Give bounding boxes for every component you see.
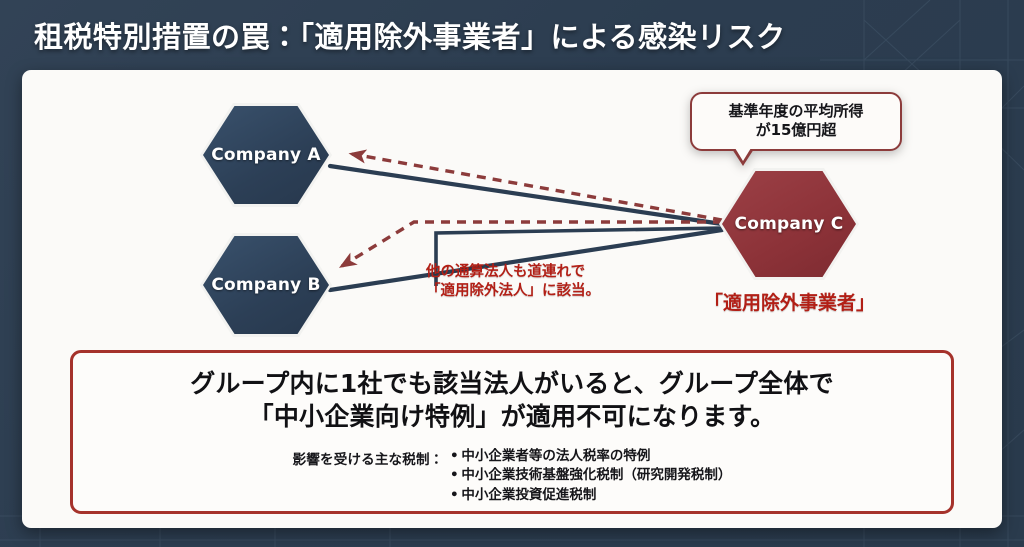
node-company-b-label: Company B bbox=[211, 275, 320, 295]
callout-line-2: が15億円超 bbox=[702, 121, 890, 140]
bullet-icon: • bbox=[447, 466, 461, 486]
infection-note-line-1: 他の通算法人も道連れで bbox=[426, 263, 600, 282]
node-company-a[interactable]: Company A bbox=[200, 103, 332, 207]
impact-label: 影響を受ける主な税制： bbox=[293, 447, 444, 468]
node-company-b[interactable]: Company B bbox=[200, 233, 332, 337]
infection-note-line-2: 「適用除外法人」に該当。 bbox=[426, 282, 600, 301]
impact-item-text: 中小企業技術基盤強化税制（研究開発税制） bbox=[461, 466, 731, 486]
slide-title-bar: 租税特別措置の罠：「適用除外事業者」による感染リスク bbox=[0, 0, 1024, 70]
conclusion-headline-line-1: グループ内に1社でも該当法人がいると、グループ全体で bbox=[73, 367, 951, 400]
callout-tail-fill bbox=[735, 148, 751, 161]
impact-section: 影響を受ける主な税制： • 中小企業者等の法人税率の特例 • 中小企業技術基盤強… bbox=[73, 447, 951, 507]
impact-item-text: 中小企業者等の法人税率の特例 bbox=[461, 447, 650, 467]
slide-root: 租税特別措置の罠：「適用除外事業者」による感染リスク Compa bbox=[0, 0, 1024, 547]
callout-bubble: 基準年度の平均所得 が15億円超 bbox=[690, 92, 902, 151]
edge-c-to-a-infection bbox=[352, 154, 722, 220]
impact-list-item: • 中小企業技術基盤強化税制（研究開発税制） bbox=[447, 466, 731, 486]
node-company-c[interactable]: Company C bbox=[719, 168, 859, 280]
impact-list-item: • 中小企業者等の法人税率の特例 bbox=[447, 447, 731, 467]
edge-c-to-b-infection bbox=[342, 222, 722, 266]
impact-list-item: • 中小企業投資促進税制 bbox=[447, 486, 731, 506]
node-company-c-label: Company C bbox=[735, 214, 844, 234]
content-card: Company A Company B Company C 「適用除外事業者」 … bbox=[22, 70, 1002, 528]
company-c-caption: 「適用除外事業者」 bbox=[682, 288, 897, 315]
callout-line-1: 基準年度の平均所得 bbox=[702, 102, 890, 121]
conclusion-box: グループ内に1社でも該当法人がいると、グループ全体で 「中小企業向け特例」が適用… bbox=[70, 350, 954, 514]
infection-note: 他の通算法人も道連れで 「適用除外法人」に該当。 bbox=[426, 263, 600, 301]
impact-item-text: 中小企業投資促進税制 bbox=[461, 486, 596, 506]
conclusion-headline-line-2: 「中小企業向け特例」が適用不可になります。 bbox=[73, 400, 951, 433]
edge-a-to-c bbox=[330, 166, 722, 224]
bullet-icon: • bbox=[447, 486, 461, 506]
page-title: 租税特別措置の罠：「適用除外事業者」による感染リスク bbox=[34, 14, 786, 56]
bullet-icon: • bbox=[447, 447, 461, 467]
node-company-a-label: Company A bbox=[211, 145, 321, 165]
impact-list: • 中小企業者等の法人税率の特例 • 中小企業技術基盤強化税制（研究開発税制） … bbox=[447, 447, 731, 507]
